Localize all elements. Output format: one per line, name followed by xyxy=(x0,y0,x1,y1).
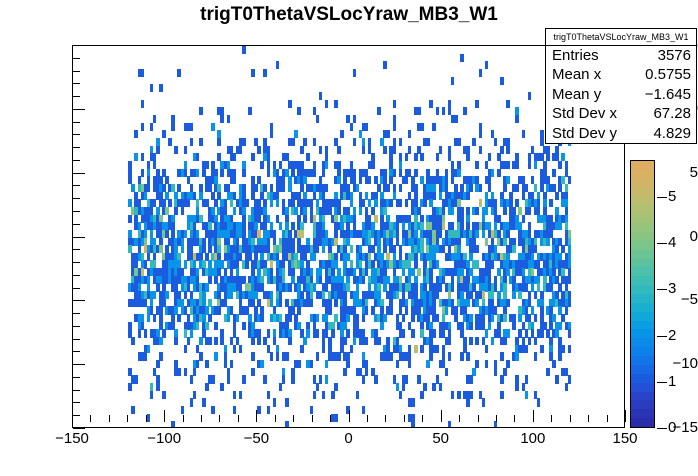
histogram-bin xyxy=(190,138,194,146)
y-axis-major-tick xyxy=(73,173,85,174)
histogram-bin xyxy=(466,398,470,406)
histogram-bin xyxy=(475,337,479,345)
histogram-bin xyxy=(233,207,237,215)
stats-row: Mean x0.5755 xyxy=(546,65,696,84)
y-axis-minor-tick xyxy=(73,415,80,416)
histogram-bin xyxy=(472,138,476,146)
y-axis-major-tick xyxy=(73,109,85,110)
palette-tick-label: 2 xyxy=(668,328,692,343)
y-axis-minor-tick xyxy=(73,288,80,289)
histogram-bin xyxy=(260,314,264,322)
stats-row-key: Std Dev y xyxy=(552,124,617,143)
histogram-bin xyxy=(251,153,255,161)
stats-row: Std Dev y4.829 xyxy=(546,124,696,143)
histogram-bin xyxy=(356,391,360,399)
histogram-bin xyxy=(442,107,446,115)
x-axis-major-tick xyxy=(441,410,442,422)
histogram-bin xyxy=(205,360,209,368)
histogram-bin xyxy=(399,138,403,146)
histogram-bin xyxy=(472,368,476,376)
histogram-bin xyxy=(285,352,289,360)
x-axis-tick-label: −150 xyxy=(37,431,107,446)
stats-row-value: −1.645 xyxy=(645,85,691,104)
histogram-bin xyxy=(568,375,572,383)
histogram-bin xyxy=(196,360,200,368)
y-axis-major-tick xyxy=(73,45,85,46)
histogram-bin xyxy=(202,398,206,406)
y-axis-minor-tick xyxy=(73,160,80,161)
histogram-bin xyxy=(448,352,452,360)
palette-cell xyxy=(631,276,654,285)
histogram-bin xyxy=(445,368,449,376)
x-axis-minor-tick xyxy=(478,415,479,422)
y-axis-minor-tick xyxy=(73,83,80,84)
histogram-bin xyxy=(236,314,240,322)
histogram-bin xyxy=(457,138,461,146)
x-axis-minor-tick xyxy=(607,415,608,422)
histogram-bin xyxy=(439,383,443,391)
histogram-bin xyxy=(276,352,280,360)
histogram-bin xyxy=(227,314,231,322)
x-axis-tick-label: 150 xyxy=(590,431,660,446)
stats-row-value: 0.5755 xyxy=(645,65,691,84)
histogram-bin xyxy=(227,115,231,123)
palette-cell xyxy=(631,249,654,258)
palette-tick-label: 1 xyxy=(668,374,692,389)
histogram-bin xyxy=(466,352,470,360)
histogram-bin xyxy=(159,337,163,345)
y-axis-minor-tick xyxy=(73,71,80,72)
histogram-bin xyxy=(460,352,464,360)
palette-cell xyxy=(631,267,654,276)
histogram-bin xyxy=(267,391,271,399)
palette-cell xyxy=(631,178,654,187)
x-axis-minor-tick xyxy=(238,415,239,422)
x-axis-minor-tick xyxy=(330,415,331,422)
x-axis-minor-tick xyxy=(275,415,276,422)
histogram-bin xyxy=(426,138,430,146)
histogram-bin xyxy=(227,375,231,383)
histogram-bin xyxy=(362,146,366,154)
histogram-bin xyxy=(153,291,157,299)
histogram-bin xyxy=(147,414,151,422)
histogram-bin xyxy=(377,337,381,345)
histogram-bin xyxy=(217,306,221,314)
histogram-bin xyxy=(193,391,197,399)
histogram-bin xyxy=(138,329,142,337)
histogram-bin xyxy=(497,169,501,177)
root-canvas: trigT0ThetaVSLocYraw_MB3_W1 −15−10−50510… xyxy=(0,0,698,476)
histogram-bin xyxy=(475,245,479,253)
histogram-bin xyxy=(466,192,470,200)
histogram-bin xyxy=(494,421,498,427)
histogram-bin xyxy=(144,329,148,337)
histogram-bin xyxy=(439,283,443,291)
y-axis-minor-tick xyxy=(73,249,80,250)
palette-tick-label: 0 xyxy=(668,420,692,435)
y-axis-minor-tick xyxy=(73,262,80,263)
histogram-bin xyxy=(211,375,215,383)
histogram-bin xyxy=(313,253,317,261)
x-axis-minor-tick xyxy=(422,415,423,422)
histogram-bin xyxy=(558,161,562,169)
histogram-bin xyxy=(362,406,366,414)
palette-cell xyxy=(631,196,654,205)
histogram-bin xyxy=(205,161,209,169)
histogram-bin xyxy=(162,391,166,399)
histogram-bin xyxy=(432,383,436,391)
palette-tick xyxy=(657,336,667,337)
histogram-bin xyxy=(506,176,510,184)
histogram-bin xyxy=(233,153,237,161)
histogram-bin xyxy=(482,398,486,406)
histogram-bin xyxy=(546,153,550,161)
histogram-bin xyxy=(405,306,409,314)
histogram-bin xyxy=(469,391,473,399)
histogram-bin xyxy=(334,383,338,391)
histogram-bin xyxy=(282,184,286,192)
histogram-bin xyxy=(549,199,553,207)
histogram-bin xyxy=(257,146,261,154)
histogram-bin xyxy=(141,100,145,108)
histogram-bin xyxy=(534,352,538,360)
x-axis-tick-label: 100 xyxy=(498,431,568,446)
histogram-bin xyxy=(525,345,529,353)
color-palette-bar xyxy=(630,160,655,428)
x-axis-minor-tick xyxy=(127,415,128,422)
histogram-bin xyxy=(475,207,479,215)
histogram-bin xyxy=(506,100,510,108)
histogram-bin xyxy=(297,360,301,368)
histogram-bin xyxy=(147,345,151,353)
histogram-bin xyxy=(162,329,166,337)
histogram-bin xyxy=(389,306,393,314)
histogram-bin xyxy=(469,322,473,330)
histogram-bin xyxy=(337,352,341,360)
histogram-bin xyxy=(313,169,317,177)
histogram-bin xyxy=(405,199,409,207)
histogram-bin xyxy=(451,283,455,291)
y-axis-minor-tick xyxy=(73,122,80,123)
histogram-bin xyxy=(316,115,320,123)
palette-cell xyxy=(631,285,654,294)
histogram-bin xyxy=(294,130,298,138)
histogram-bin xyxy=(429,100,433,108)
histogram-bin xyxy=(279,383,283,391)
histogram-bin xyxy=(325,184,329,192)
palette-cell xyxy=(631,338,654,347)
histogram-bin xyxy=(386,184,390,192)
histogram-bin xyxy=(267,406,271,414)
histogram-bins xyxy=(73,46,624,427)
histogram-bin xyxy=(528,337,532,345)
histogram-bin xyxy=(488,153,492,161)
histogram-bin xyxy=(417,268,421,276)
histogram-bin xyxy=(303,138,307,146)
histogram-bin xyxy=(475,161,479,169)
histogram-bin xyxy=(383,61,387,69)
y-axis-minor-tick xyxy=(73,326,80,327)
histogram-bin xyxy=(233,391,237,399)
histogram-bin xyxy=(291,375,295,383)
histogram-bin xyxy=(181,207,185,215)
histogram-bin xyxy=(184,368,188,376)
stats-row-value: 3576 xyxy=(658,46,691,65)
histogram-bin xyxy=(306,329,310,337)
y-axis-minor-tick xyxy=(73,351,80,352)
palette-cell xyxy=(631,302,654,311)
histogram-bin xyxy=(540,329,544,337)
histogram-bin xyxy=(239,146,243,154)
histogram-bin xyxy=(365,306,369,314)
palette-cell xyxy=(631,373,654,382)
histogram-bin xyxy=(325,375,329,383)
histogram-bin xyxy=(525,391,529,399)
histogram-bin xyxy=(184,260,188,268)
x-axis-minor-tick xyxy=(367,415,368,422)
histogram-bin xyxy=(297,306,301,314)
x-axis-major-tick xyxy=(625,410,626,422)
histogram-bin xyxy=(466,153,470,161)
histogram-bin xyxy=(343,337,347,345)
histogram-bin xyxy=(405,375,409,383)
histogram-bin xyxy=(475,100,479,108)
histogram-bin xyxy=(306,153,310,161)
histogram-bin xyxy=(420,345,424,353)
stats-row-key: Mean x xyxy=(552,65,601,84)
histogram-bin xyxy=(417,375,421,383)
histogram-bin xyxy=(242,375,246,383)
histogram-bin xyxy=(491,314,495,322)
x-axis-minor-tick xyxy=(385,415,386,422)
histogram-bin xyxy=(153,314,157,322)
histogram-bin xyxy=(190,329,194,337)
histogram-bin xyxy=(208,337,212,345)
palette-tick xyxy=(657,428,667,429)
stats-row-value: 67.28 xyxy=(653,104,691,123)
histogram-bin xyxy=(479,130,483,138)
histogram-bin xyxy=(233,406,237,414)
histogram-bin xyxy=(362,314,366,322)
histogram-bin xyxy=(457,169,461,177)
histogram-bin xyxy=(187,337,191,345)
histogram-bin xyxy=(469,337,473,345)
histogram-bin xyxy=(515,161,519,169)
histogram-bin xyxy=(331,391,335,399)
histogram-bin xyxy=(159,84,163,92)
histogram-bin xyxy=(300,230,304,238)
histogram-bin xyxy=(534,161,538,169)
plot-frame xyxy=(72,45,625,428)
histogram-bin xyxy=(230,360,234,368)
y-axis-minor-tick xyxy=(73,390,80,391)
x-axis-minor-tick xyxy=(459,415,460,422)
histogram-bin xyxy=(451,207,455,215)
histogram-bin xyxy=(254,184,258,192)
histogram-bin xyxy=(555,192,559,200)
histogram-bin xyxy=(506,146,510,154)
histogram-bin xyxy=(399,184,403,192)
histogram-bin xyxy=(565,306,569,314)
histogram-bin xyxy=(156,360,160,368)
histogram-bin xyxy=(220,115,224,123)
histogram-bin xyxy=(310,299,314,307)
histogram-bin xyxy=(220,169,224,177)
histogram-bin xyxy=(568,176,572,184)
histogram-bin xyxy=(325,161,329,169)
palette-tick xyxy=(657,243,667,244)
stats-row-key: Std Dev x xyxy=(552,104,617,123)
histogram-bin xyxy=(285,421,289,427)
histogram-bin xyxy=(475,230,479,238)
histogram-bin xyxy=(420,391,424,399)
histogram-bin xyxy=(196,169,200,177)
histogram-bin xyxy=(411,421,415,427)
palette-cell xyxy=(631,382,654,391)
palette-cell xyxy=(631,320,654,329)
x-axis-major-tick xyxy=(533,410,534,422)
y-axis-minor-tick xyxy=(73,402,80,403)
stats-box-rows: Entries3576Mean x0.5755Mean y−1.645Std D… xyxy=(546,46,696,143)
histogram-bin xyxy=(402,314,406,322)
histogram-bin xyxy=(322,169,326,177)
y-axis-minor-tick xyxy=(73,224,80,225)
histogram-bin xyxy=(343,368,347,376)
histogram-bin xyxy=(276,199,280,207)
histogram-bin xyxy=(177,69,181,77)
histogram-bin xyxy=(503,184,507,192)
histogram-bin xyxy=(303,215,307,223)
histogram-bin xyxy=(546,368,550,376)
histogram-bin xyxy=(316,383,320,391)
histogram-bin xyxy=(411,314,415,322)
histogram-bin xyxy=(242,46,246,54)
stats-box[interactable]: trigT0ThetaVSLocYraw_MB3_W1 Entries3576M… xyxy=(545,28,697,144)
histogram-bin xyxy=(463,107,467,115)
histogram-bin xyxy=(334,299,338,307)
histogram-bin xyxy=(230,291,234,299)
histogram-bin xyxy=(399,391,403,399)
x-axis-tick-label: −100 xyxy=(129,431,199,446)
histogram-bin xyxy=(134,375,138,383)
histogram-bin xyxy=(193,368,197,376)
histogram-bin xyxy=(208,276,212,284)
stats-row-key: Entries xyxy=(552,46,599,65)
x-axis-major-tick xyxy=(164,410,165,422)
histogram-bin xyxy=(469,184,473,192)
histogram-bin xyxy=(368,176,372,184)
x-axis-minor-tick xyxy=(219,415,220,422)
histogram-bin xyxy=(199,337,203,345)
histogram-bin xyxy=(288,337,292,345)
histogram-bin xyxy=(190,123,194,131)
histogram-bin xyxy=(359,176,363,184)
histogram-bin xyxy=(337,146,341,154)
histogram-bin xyxy=(469,375,473,383)
histogram-bin xyxy=(205,383,209,391)
y-axis-minor-tick xyxy=(73,58,80,59)
histogram-bin xyxy=(260,161,264,169)
histogram-bin xyxy=(251,368,255,376)
histogram-bin xyxy=(273,398,277,406)
histogram-bin xyxy=(141,169,145,177)
histogram-bin xyxy=(270,130,274,138)
palette-tick-label: 4 xyxy=(668,235,692,250)
histogram-bin xyxy=(199,138,203,146)
histogram-bin xyxy=(328,306,332,314)
histogram-bin xyxy=(426,360,430,368)
histogram-bin xyxy=(233,176,237,184)
histogram-bin xyxy=(316,245,320,253)
histogram-bin xyxy=(288,283,292,291)
histogram-bin xyxy=(159,352,163,360)
histogram-bin xyxy=(383,314,387,322)
palette-cell xyxy=(631,311,654,320)
x-axis-major-tick xyxy=(256,410,257,422)
palette-cell xyxy=(631,240,654,249)
histogram-bin xyxy=(411,398,415,406)
histogram-bin xyxy=(211,123,215,131)
histogram-bin xyxy=(454,115,458,123)
histogram-bin xyxy=(457,391,461,399)
histogram-bin xyxy=(353,69,357,77)
histogram-bin xyxy=(174,207,178,215)
histogram-bin xyxy=(485,207,489,215)
histogram-bin xyxy=(479,146,483,154)
y-axis-major-tick xyxy=(73,428,85,429)
histogram-bin xyxy=(276,61,280,69)
histogram-bin xyxy=(485,61,489,69)
histogram-bin xyxy=(184,146,188,154)
histogram-bin xyxy=(285,398,289,406)
histogram-bin xyxy=(300,345,304,353)
histogram-bin xyxy=(537,398,541,406)
stats-row: Std Dev x67.28 xyxy=(546,104,696,123)
histogram-bin xyxy=(506,329,510,337)
histogram-bin xyxy=(350,123,354,131)
histogram-bin xyxy=(257,406,261,414)
histogram-bin xyxy=(128,215,132,223)
histogram-bin xyxy=(500,391,504,399)
histogram-bin xyxy=(420,153,424,161)
histogram-bin xyxy=(134,130,138,138)
histogram-bin xyxy=(322,345,326,353)
x-axis-minor-tick xyxy=(312,415,313,422)
histogram-bin xyxy=(156,146,160,154)
histogram-bin xyxy=(150,391,154,399)
x-axis-minor-tick xyxy=(109,415,110,422)
histogram-bin xyxy=(528,207,532,215)
histogram-bin xyxy=(165,291,169,299)
histogram-bin xyxy=(245,260,249,268)
histogram-bin xyxy=(568,345,572,353)
x-axis-tick-label: 50 xyxy=(406,431,476,446)
histogram-bin xyxy=(181,245,185,253)
y-axis-major-tick xyxy=(73,300,85,301)
histogram-bin xyxy=(220,383,224,391)
x-axis-minor-tick xyxy=(183,415,184,422)
histogram-bin xyxy=(503,314,507,322)
histogram-bin xyxy=(500,146,504,154)
histogram-bin xyxy=(334,414,338,422)
histogram-bin xyxy=(205,322,209,330)
histogram-bin xyxy=(374,215,378,223)
histogram-bin xyxy=(263,69,267,77)
histogram-bin xyxy=(199,352,203,360)
y-axis-minor-tick xyxy=(73,134,80,135)
histogram-bin xyxy=(316,314,320,322)
histogram-bin xyxy=(346,360,350,368)
